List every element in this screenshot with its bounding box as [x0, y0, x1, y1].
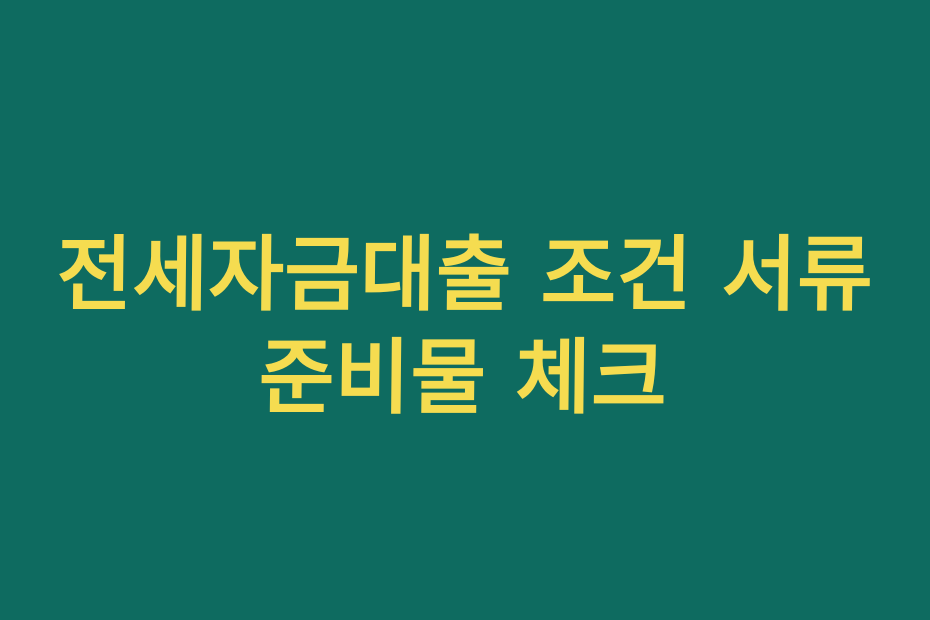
title-line-2: 준비물 체크 [0, 327, 929, 430]
title-line-1: 전세자금대출 조건 서류 [0, 224, 930, 327]
title-card: 전세자금대출 조건 서류 준비물 체크 [0, 0, 930, 620]
title-text-block: 전세자금대출 조건 서류 준비물 체크 [0, 224, 930, 431]
